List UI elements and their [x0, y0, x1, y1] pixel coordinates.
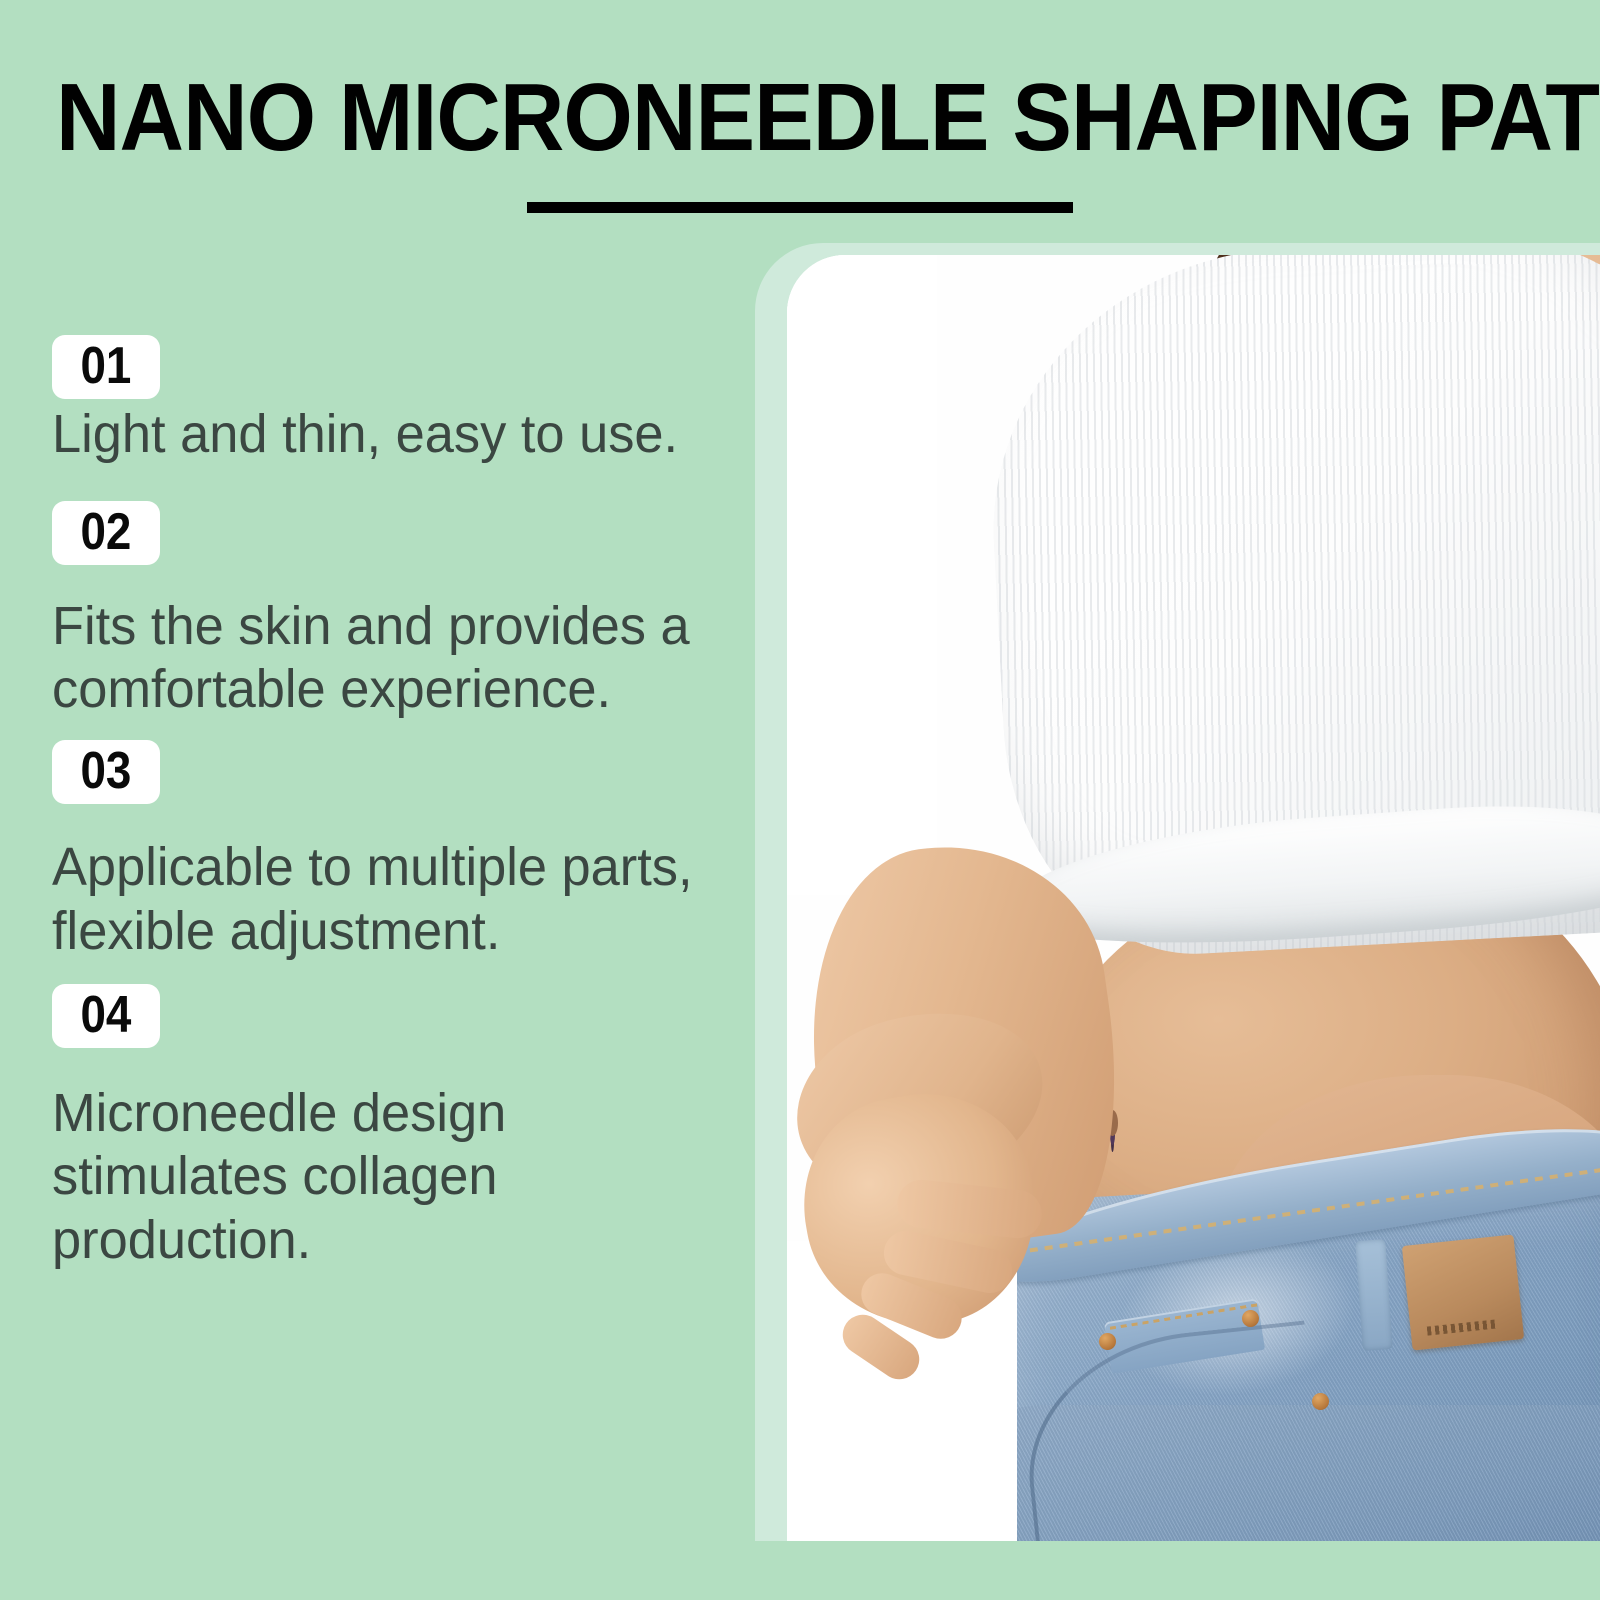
- photo-rivet: [1312, 1393, 1329, 1410]
- product-photo-frame: [787, 255, 1600, 1541]
- title-block: NANO MICRONEEDLE SHAPING PATCH: [0, 70, 1600, 213]
- feature-number-01: 01: [81, 340, 132, 392]
- feature-number-badge-02: 02: [52, 501, 160, 565]
- feature-item-02: 02 Fits the skin and provides a comforta…: [52, 501, 732, 722]
- feature-item-03: 03 Applicable to multiple parts, flexibl…: [52, 740, 732, 963]
- feature-text-01: Light and thin, easy to use.: [52, 403, 712, 467]
- feature-number-03: 03: [81, 745, 132, 797]
- feature-number-02: 02: [81, 506, 132, 558]
- photo-rivet: [1242, 1310, 1259, 1327]
- feature-text-03: Applicable to multiple parts, flexible a…: [52, 836, 712, 963]
- feature-number-badge-04: 04: [52, 984, 160, 1048]
- feature-item-01: 01 Light and thin, easy to use.: [52, 335, 732, 467]
- photo-rivet: [1099, 1333, 1116, 1350]
- page-title: NANO MICRONEEDLE SHAPING PATCH: [56, 70, 1544, 166]
- feature-item-04: 04 Microneedle design stimulates collage…: [52, 984, 732, 1273]
- feature-text-04: Microneedle design stimulates collagen p…: [52, 1082, 712, 1273]
- poster-canvas: NANO MICRONEEDLE SHAPING PATCH 01 Light …: [0, 0, 1600, 1600]
- product-photo: [787, 255, 1600, 1541]
- photo-backdrop-left: [787, 255, 937, 895]
- feature-list: 01 Light and thin, easy to use. 02 Fits …: [52, 335, 732, 1273]
- feature-number-04: 04: [81, 989, 132, 1041]
- title-underline-rule: [527, 202, 1073, 213]
- photo-leather-patch: [1402, 1234, 1524, 1350]
- feature-number-badge-01: 01: [52, 335, 160, 399]
- feature-number-badge-03: 03: [52, 740, 160, 804]
- feature-text-02: Fits the skin and provides a comfortable…: [52, 595, 712, 722]
